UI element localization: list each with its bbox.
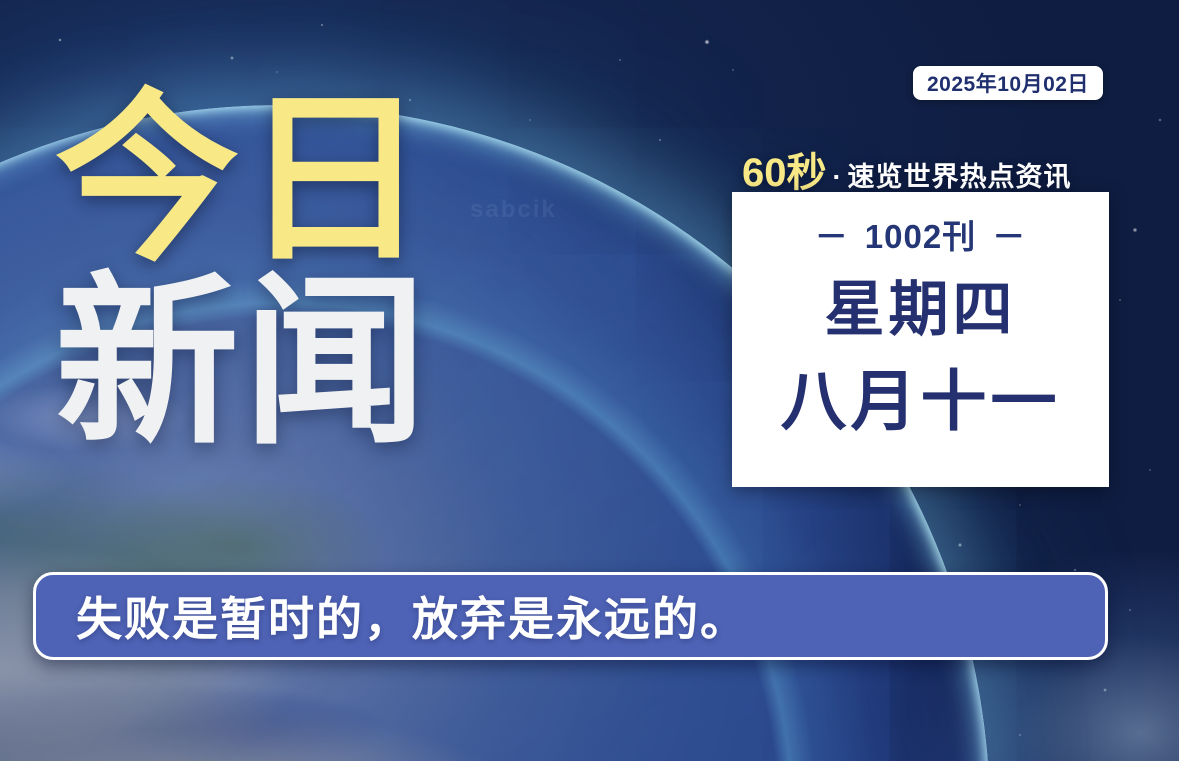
- date-badge: 2025年10月02日: [913, 66, 1103, 100]
- issue-dash-right: －: [992, 218, 1026, 255]
- masthead: 今日 新闻: [55, 92, 431, 451]
- watermark-text: sabcik: [470, 196, 557, 224]
- lunar-date-label: 八月十一: [781, 368, 1061, 434]
- tagline-text: 速览世界热点资讯: [848, 155, 1072, 194]
- date-badge-label: 2025年10月02日: [927, 68, 1089, 98]
- date-info-card: －1002刊－ 星期四 八月十一: [732, 192, 1109, 487]
- issue-number-row: －1002刊－: [799, 210, 1042, 258]
- tagline-separator: ·: [833, 162, 842, 193]
- weekday-label: 星期四: [825, 280, 1017, 340]
- issue-number: 1002刊: [865, 218, 976, 255]
- tagline: 60秒 · 速览世界热点资讯: [742, 140, 1072, 198]
- quote-text: 失败是暂时的，放弃是永远的。: [76, 583, 748, 649]
- masthead-line-today: 今日: [55, 92, 431, 269]
- news-poster: sabcik 2025年10月02日 今日 新闻 60秒 · 速览世界热点资讯 …: [0, 0, 1179, 761]
- masthead-line-news: 新闻: [55, 275, 431, 452]
- tagline-seconds: 60秒: [742, 140, 827, 198]
- quote-bar: 失败是暂时的，放弃是永远的。: [33, 572, 1108, 660]
- issue-dash-left: －: [815, 218, 849, 255]
